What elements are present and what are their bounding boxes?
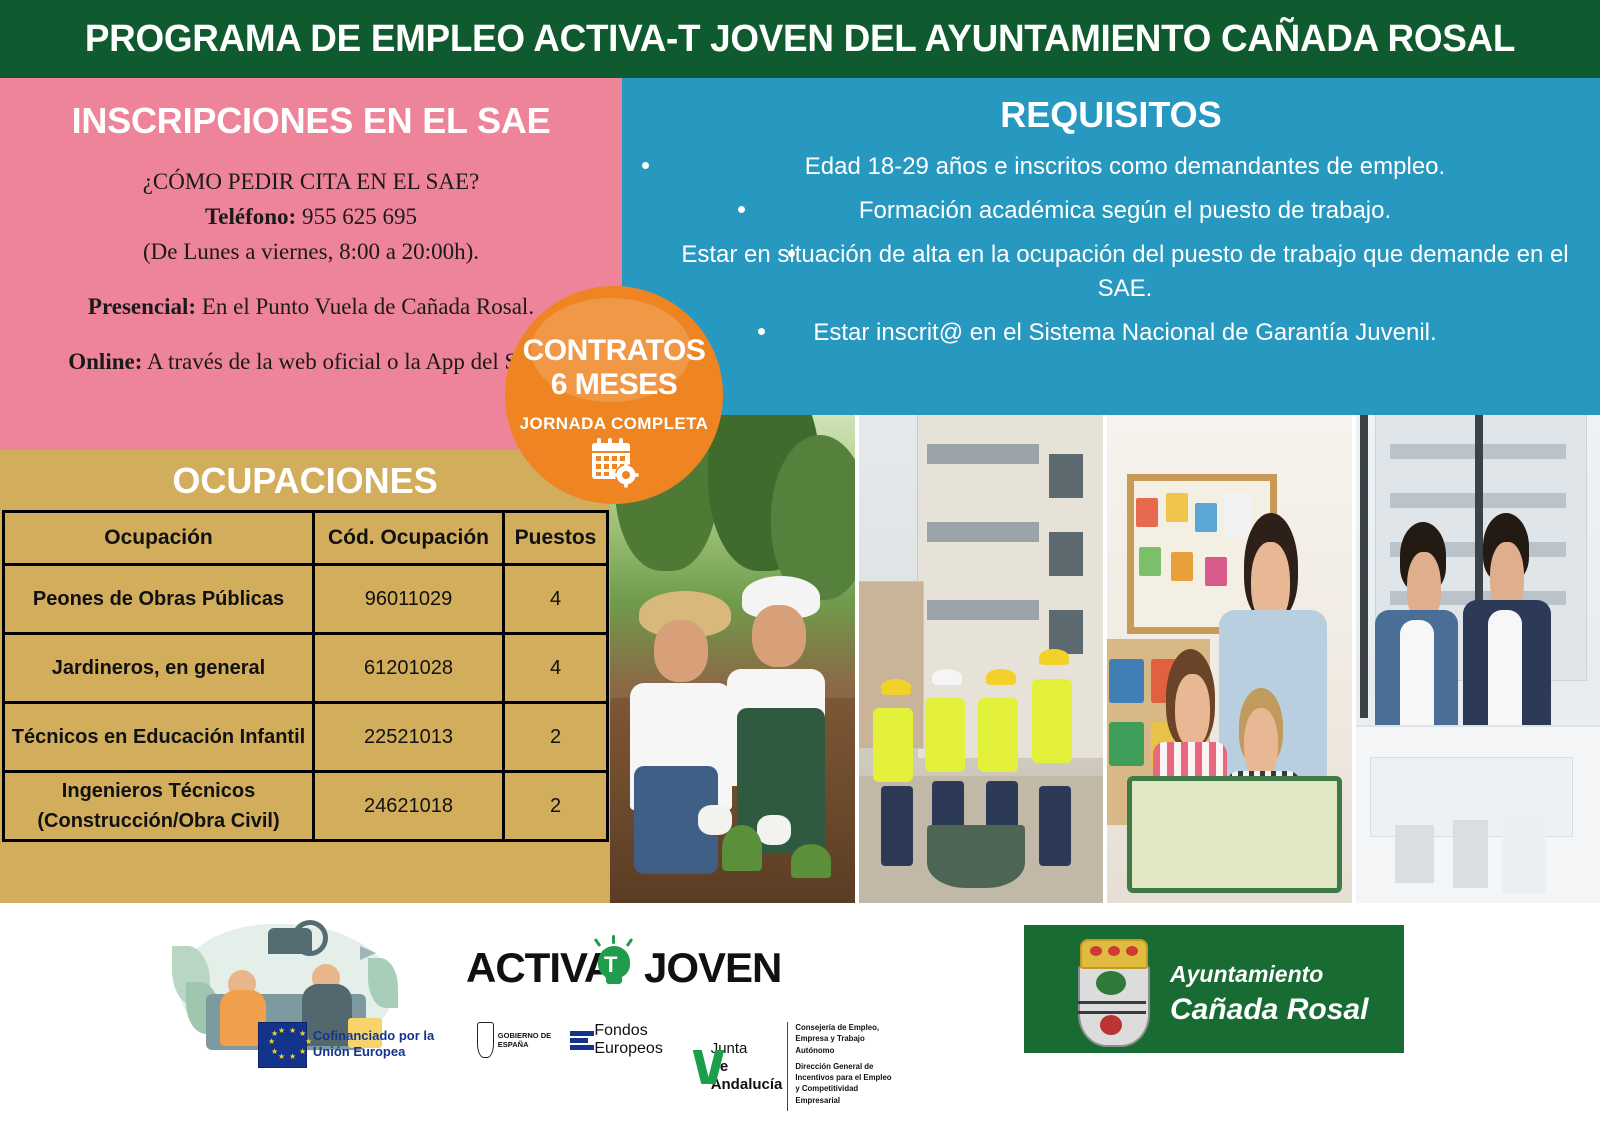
safety-vest <box>1032 679 1072 763</box>
page-title: PROGRAMA DE EMPLEO ACTIVA-T JOVEN DEL AY… <box>24 0 1576 78</box>
activa-t-joven-logo: ACTIVA- T JOVEN <box>466 930 786 992</box>
yellow-helmet <box>1039 649 1069 665</box>
cell-codigo: 22521013 <box>314 703 504 772</box>
junta-line-2: de Andalucía <box>711 1058 783 1093</box>
cell-ocupacion: Jardineros, en general <box>4 634 314 703</box>
requisito-text: Edad 18-29 años e inscritos como demanda… <box>805 153 1445 180</box>
classroom-table <box>1127 776 1342 893</box>
poster: PROGRAMA DE EMPLEO ACTIVA-T JOVEN DEL AY… <box>0 0 1600 1131</box>
crown-icon <box>1080 939 1148 969</box>
worker-legs <box>1039 786 1071 866</box>
board-item <box>1205 557 1227 586</box>
ocupaciones-panel: OCUPACIONES Ocupación Cód. Ocupación Pue… <box>0 450 610 903</box>
storage-bin <box>1109 659 1143 703</box>
shield-wave <box>1078 1001 1146 1004</box>
safety-vest <box>873 708 913 782</box>
col-header-codigo: Cód. Ocupación <box>314 512 504 565</box>
table-row: Ingenieros Técnicos (Construcción/Obra C… <box>4 772 608 841</box>
classroom-photo <box>1107 415 1352 903</box>
junta-mark-icon <box>695 1050 706 1084</box>
requisito-text: Estar inscrit@ en el Sistema Nacional de… <box>813 319 1436 346</box>
building-model <box>1395 825 1434 884</box>
machine-shape <box>268 928 312 954</box>
cell-ocupacion: Peones de Obras Públicas <box>4 565 314 634</box>
bulb-base <box>606 975 622 984</box>
cell-puestos: 4 <box>504 634 608 703</box>
contract-badge: CONTRATOS 6 MESES JORNADA COMPLETA <box>505 286 723 504</box>
child-face <box>1175 674 1209 747</box>
board-item <box>1136 498 1158 527</box>
balcony <box>927 600 1039 620</box>
yellow-helmet <box>881 679 911 695</box>
ayuntamiento-line-1: Ayuntamiento <box>1170 961 1323 988</box>
lightbulb-icon: T <box>592 938 636 984</box>
window <box>1049 610 1083 654</box>
cell-ocupacion: Técnicos en Educación Infantil <box>4 703 314 772</box>
presencial-line: Presencial: En el Punto Vuela de Cañada … <box>22 291 600 322</box>
coat-of-arms-icon <box>1070 939 1154 1043</box>
fondos-europeos-logo: Fondos Europeos <box>570 1022 681 1058</box>
cell-puestos: 2 <box>504 772 608 841</box>
bulb-ray <box>612 935 615 944</box>
col-header-puestos: Puestos <box>504 512 608 565</box>
spacer <box>22 271 600 291</box>
table-row: Técnicos en Educación Infantil 22521013 … <box>4 703 608 772</box>
schedule-line: (De Lunes a viernes, 8:00 a 20:00h). <box>22 236 600 267</box>
ocupaciones-table: Ocupación Cód. Ocupación Puestos Peones … <box>2 510 609 842</box>
calendar-gear-icon <box>588 438 640 493</box>
table-header-row: Ocupación Cód. Ocupación Puestos <box>4 512 608 565</box>
table-row: Jardineros, en general 61201028 4 <box>4 634 608 703</box>
window-mullion <box>1360 415 1367 718</box>
yellow-helmet <box>986 669 1016 685</box>
construction-photo <box>859 415 1104 903</box>
cell-puestos: 4 <box>504 565 608 634</box>
cell-ocupacion: Ingenieros Técnicos (Construcción/Obra C… <box>4 772 314 841</box>
bulb-ray <box>626 938 634 947</box>
cell-puestos: 2 <box>504 703 608 772</box>
white-helmet <box>932 669 962 685</box>
phone-label: Teléfono: <box>205 204 296 229</box>
worker-face <box>654 620 708 682</box>
inscripciones-title: INSCRIPCIONES EN EL SAE <box>0 100 622 142</box>
bullet-icon <box>642 162 649 169</box>
board-item <box>1171 552 1193 581</box>
glove <box>757 815 791 845</box>
online-label: Online: <box>68 349 142 374</box>
fondos-label: Fondos Europeos <box>594 1022 681 1058</box>
balcony <box>927 522 1039 542</box>
funder-logos: ★ ★ ★ ★ ★ ★ ★ ★ ★ ★ Cofinanciado por la … <box>258 1022 898 1084</box>
board-item <box>1195 503 1217 532</box>
ayuntamiento-logo: Ayuntamiento Cañada Rosal <box>1024 925 1404 1053</box>
requisito-item: Formación académica según el puesto de t… <box>668 194 1582 229</box>
phone-number: 955 625 695 <box>302 204 417 229</box>
spain-crest-icon <box>477 1022 494 1058</box>
child-face <box>1244 708 1278 781</box>
bulb-ray <box>594 938 602 947</box>
seedling <box>722 825 762 871</box>
shield-wave <box>1078 1011 1146 1014</box>
presencial-label: Presencial: <box>88 294 196 319</box>
bullet-icon <box>738 206 745 213</box>
cita-question: ¿CÓMO PEDIR CITA EN EL SAE? <box>22 166 600 197</box>
building-model <box>1502 815 1546 893</box>
requisito-text: Formación académica según el puesto de t… <box>859 197 1391 224</box>
cell-codigo: 61201028 <box>314 634 504 703</box>
phone-line: Teléfono: 955 625 695 <box>22 201 600 232</box>
engineers-photo <box>1356 415 1600 903</box>
badge-line-2: 6 MESES <box>505 368 723 402</box>
requisito-text: Estar en situación de alta en la ocupaci… <box>681 241 1568 303</box>
photo-strip <box>610 415 1600 903</box>
building-model <box>1453 820 1487 888</box>
presencial-text: En el Punto Vuela de Cañada Rosal. <box>202 294 534 319</box>
wheelbarrow <box>927 825 1025 888</box>
bullet-icon <box>788 250 795 257</box>
table-row: Peones de Obras Públicas 96011029 4 <box>4 565 608 634</box>
shield-rose <box>1100 1015 1122 1035</box>
requisito-item: Estar inscrit@ en el Sistema Nacional de… <box>668 316 1582 351</box>
board-item <box>1166 493 1188 522</box>
board-item <box>1224 493 1251 537</box>
seedling <box>791 844 831 878</box>
col-header-ocupacion: Ocupación <box>4 512 314 565</box>
gobierno-espana-logo: GOBIERNO DE ESPAÑA <box>477 1022 557 1058</box>
eu-label: Cofinanciado por la Unión Europea <box>313 1022 463 1061</box>
cell-codigo: 24621018 <box>314 772 504 841</box>
requisitos-title: REQUISITOS <box>622 94 1600 136</box>
logo-text-part2: JOVEN <box>644 944 781 992</box>
badge-line-1: CONTRATOS <box>505 334 723 368</box>
cell-codigo: 96011029 <box>314 565 504 634</box>
requisitos-list: Edad 18-29 años e inscritos como demanda… <box>622 150 1600 351</box>
requisitos-panel: REQUISITOS Edad 18-29 años e inscritos c… <box>622 78 1600 415</box>
window <box>1049 532 1083 576</box>
eu-logo: ★ ★ ★ ★ ★ ★ ★ ★ ★ ★ Cofinanciado por la … <box>258 1022 463 1068</box>
safety-vest <box>978 698 1018 772</box>
safety-vest <box>925 698 965 772</box>
online-text: A través de la web oficial o la App del … <box>147 349 554 374</box>
bullet-icon <box>758 328 765 335</box>
consejeria-text: Consejería de Empleo, Empresa y Trabajo … <box>787 1022 898 1111</box>
window <box>1049 454 1083 498</box>
gobierno-label: GOBIERNO DE ESPAÑA <box>498 1031 557 1050</box>
junta-label: Junta de Andalucía <box>711 1040 783 1094</box>
ocupaciones-title: OCUPACIONES <box>0 450 610 502</box>
junta-andalucia-logo: Junta de Andalucía Consejería de Empleo,… <box>695 1022 898 1111</box>
ayuntamiento-line-2: Cañada Rosal <box>1170 993 1368 1027</box>
requisito-item: Estar en situación de alta en la ocupaci… <box>668 238 1582 308</box>
consejeria-line-1: Consejería de Empleo, Empresa y Trabajo … <box>795 1022 898 1056</box>
badge-line-3: JORNADA COMPLETA <box>505 414 723 434</box>
worker-face <box>752 605 806 667</box>
worker-legs <box>881 786 913 866</box>
paper-plane-icon <box>360 946 376 960</box>
storage-bin <box>1109 722 1143 766</box>
consejeria-line-2: Dirección General de Incentivos para el … <box>795 1061 898 1106</box>
balcony <box>927 444 1039 464</box>
eu-flag-icon: ★ ★ ★ ★ ★ ★ ★ ★ ★ ★ <box>258 1022 307 1068</box>
requisito-item: Edad 18-29 años e inscritos como demanda… <box>668 150 1582 185</box>
board-item <box>1139 547 1161 576</box>
shield-tree <box>1096 971 1126 995</box>
fondos-bars-icon <box>570 1025 588 1055</box>
